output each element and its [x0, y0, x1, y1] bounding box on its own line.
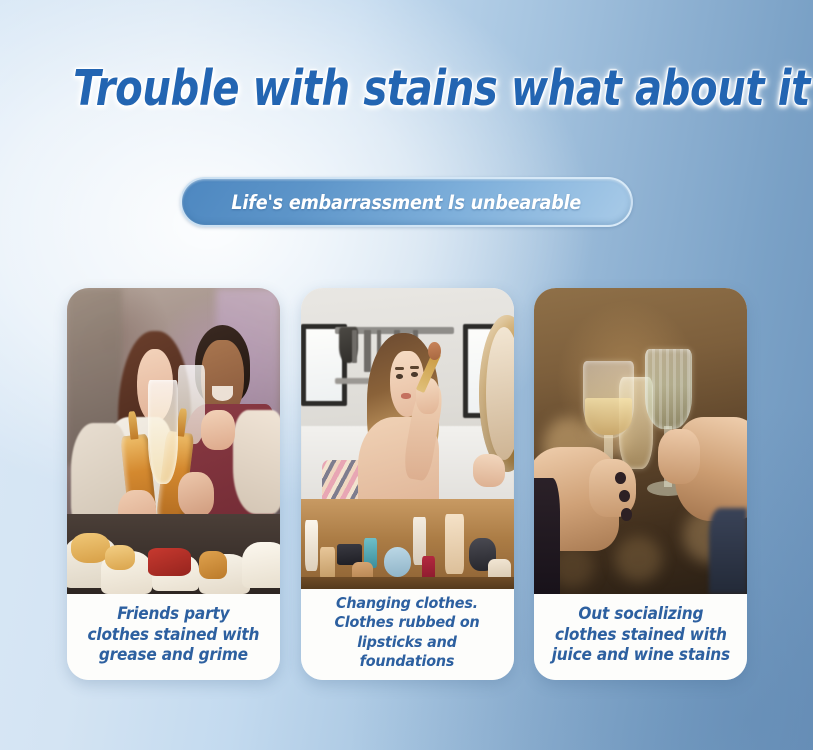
caption-line: clothes stained with: [88, 625, 260, 646]
wine-toast-photo: [534, 288, 747, 594]
caption-line: clothes stained with: [551, 625, 729, 646]
friends-party-caption: Friends party clothes stained with greas…: [88, 604, 260, 666]
caption-line: Friends party: [88, 604, 260, 625]
caption-line: lipsticks and: [334, 633, 479, 652]
caption-line: foundations: [334, 652, 479, 671]
caption-line: juice and wine stains: [551, 645, 729, 666]
scenario-card-row: Friends party clothes stained with greas…: [67, 288, 747, 680]
tagline-badge-label: Life's embarrassment Is unbearable: [232, 191, 582, 214]
card-caption: Changing clothes. Clothes rubbed on lips…: [301, 589, 514, 680]
out-socializing-caption: Out socializing clothes stained with jui…: [551, 604, 729, 666]
friends-party-photo: [67, 288, 280, 594]
scenario-card-out-socializing[interactable]: Out socializing clothes stained with jui…: [534, 288, 747, 680]
changing-clothes-caption: Changing clothes. Clothes rubbed on lips…: [334, 594, 479, 670]
caption-line: grease and grime: [88, 645, 260, 666]
page-title: Trouble with stains what about it: [73, 64, 740, 113]
badge-row: Life's embarrassment Is unbearable: [0, 177, 813, 227]
promo-poster: Trouble with stains what about it Life's…: [0, 0, 813, 750]
makeup-vanity-photo: [301, 288, 514, 589]
scenario-card-changing-clothes[interactable]: Changing clothes. Clothes rubbed on lips…: [301, 288, 514, 680]
scenario-card-friends-party[interactable]: Friends party clothes stained with greas…: [67, 288, 280, 680]
caption-line: Changing clothes.: [334, 594, 479, 613]
card-caption: Out socializing clothes stained with jui…: [534, 594, 747, 680]
tagline-badge: Life's embarrassment Is unbearable: [180, 177, 633, 227]
caption-line: Out socializing: [551, 604, 729, 625]
caption-line: Clothes rubbed on: [334, 613, 479, 632]
card-caption: Friends party clothes stained with greas…: [67, 594, 280, 680]
